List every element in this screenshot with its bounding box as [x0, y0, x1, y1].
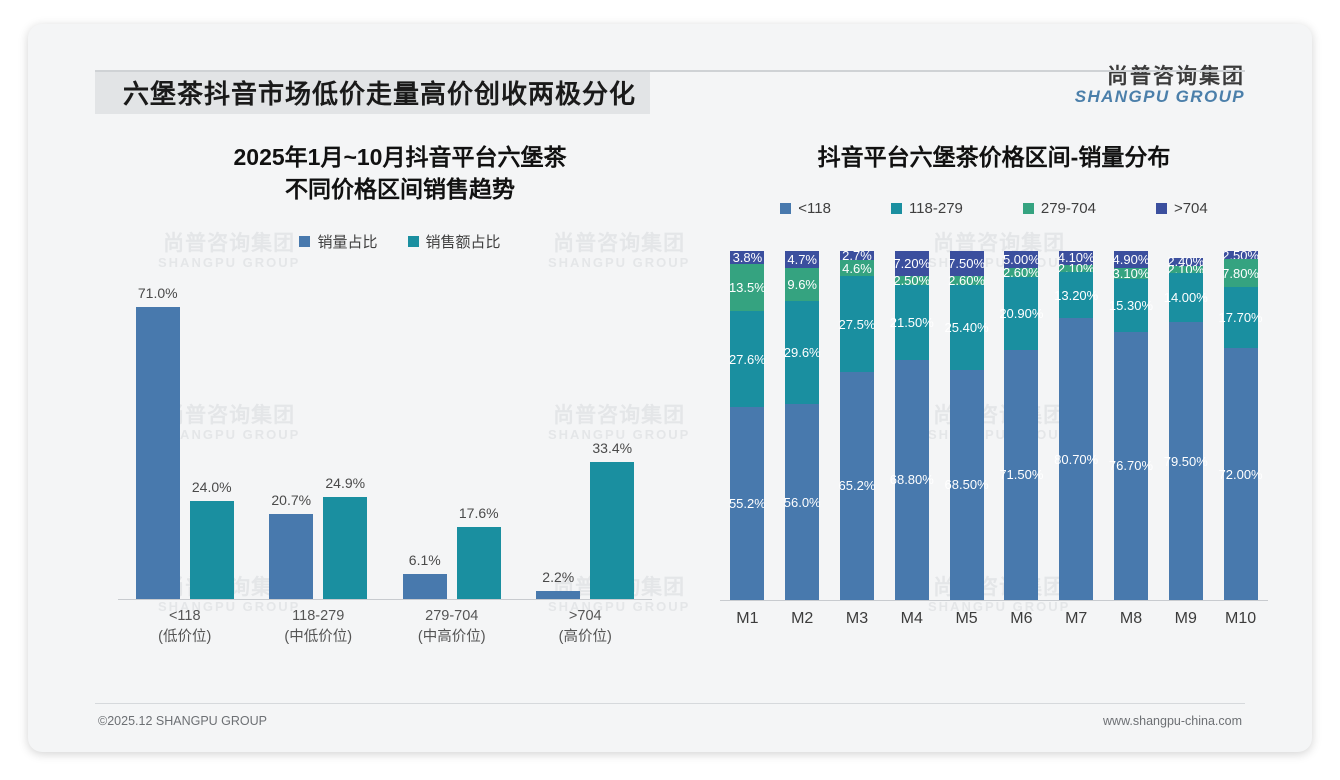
bar-group: 2.2% 33.4%: [519, 290, 653, 599]
stacked-bar-segment[interactable]: 2.10%: [1169, 266, 1203, 273]
stacked-bar[interactable]: 4.10%2.10%13.20%80.70%: [1059, 251, 1093, 600]
stacked-bar-segment[interactable]: 68.50%: [950, 370, 984, 600]
legend-swatch-icon: [408, 236, 419, 247]
stacked-bar-segment[interactable]: 13.20%: [1059, 272, 1093, 318]
bar-value-label: 33.4%: [592, 440, 632, 456]
segment-value-label: 55.2%: [729, 496, 766, 511]
legend-label: 118-279: [909, 200, 963, 217]
stacked-bar-segment[interactable]: 20.90%: [1004, 277, 1038, 350]
left-chart-panel: 2025年1月~10月抖音平台六堡茶 不同价格区间销售趋势 销量占比 销售额占比…: [100, 142, 700, 702]
segment-value-label: 7.20%: [893, 256, 930, 271]
legend-item-low[interactable]: <118: [780, 200, 831, 217]
stacked-bar[interactable]: 7.20%2.50%21.50%68.80%: [895, 251, 929, 600]
segment-value-label: 29.6%: [784, 345, 821, 360]
right-chart-panel: 抖音平台六堡茶价格区间-销量分布 <118 118-279 279-704 >7…: [714, 142, 1274, 702]
segment-value-label: 4.90%: [1113, 252, 1150, 267]
bar-group: 6.1% 17.6%: [385, 290, 519, 599]
segment-value-label: 79.50%: [1164, 454, 1208, 469]
stacked-bar[interactable]: 4.90%3.10%15.30%76.70%: [1114, 251, 1148, 600]
stacked-bar[interactable]: 5.00%2.60%20.90%71.50%: [1004, 251, 1038, 600]
segment-value-label: 27.5%: [839, 317, 876, 332]
stacked-bar-segment[interactable]: 17.70%: [1224, 287, 1258, 349]
stacked-bar-segment[interactable]: 2.7%: [840, 251, 874, 260]
stacked-bar-segment[interactable]: 21.50%: [895, 285, 929, 360]
stacked-bar[interactable]: 7.50%2.60%25.40%68.50%: [950, 251, 984, 600]
stacked-bar-segment[interactable]: 76.70%: [1114, 332, 1148, 600]
left-plot-area: 71.0% 24.0% 20.7% 24.9%: [118, 290, 652, 600]
stacked-bar-segment[interactable]: 9.6%: [785, 268, 819, 302]
legend-swatch-icon: [780, 203, 791, 214]
bar-value-label: 71.0%: [138, 285, 178, 301]
bar-value-label: 20.7%: [271, 492, 311, 508]
left-grouped-bar-chart: 71.0% 24.0% 20.7% 24.9%: [100, 276, 700, 646]
stacked-bar-segment[interactable]: 27.6%: [730, 311, 764, 407]
bar-volume[interactable]: 2.2%: [536, 591, 580, 600]
x-axis-tick: M5: [939, 601, 994, 643]
stacked-bar[interactable]: 2.7%4.6%27.5%65.2%: [840, 251, 874, 600]
stacked-bar-segment[interactable]: 2.60%: [950, 276, 984, 285]
x-axis-tick: M7: [1049, 601, 1104, 643]
stacked-bar-segment[interactable]: 3.8%: [730, 251, 764, 264]
stacked-bar-segment[interactable]: 55.2%: [730, 407, 764, 599]
x-axis-tick: <118 (低价位): [118, 600, 252, 646]
stacked-bar-segment[interactable]: 56.0%: [785, 404, 819, 599]
segment-value-label: 21.50%: [890, 315, 934, 330]
stacked-bar-segment[interactable]: 15.30%: [1114, 279, 1148, 332]
bar-value-label: 2.2%: [542, 569, 574, 585]
legend-swatch-icon: [1156, 203, 1167, 214]
stacked-bar-segment[interactable]: 65.2%: [840, 372, 874, 600]
brand-logo-en: SHANGPU GROUP: [1075, 88, 1245, 106]
stacked-bar-segment[interactable]: 2.50%: [895, 276, 929, 285]
segment-value-label: 76.70%: [1109, 458, 1153, 473]
legend-label: <118: [798, 200, 831, 217]
stacked-bar-segment[interactable]: 7.80%: [1224, 259, 1258, 286]
right-x-axis-labels: M1M2M3M4M5M6M7M8M9M10: [720, 601, 1268, 643]
segment-value-label: 3.8%: [733, 250, 763, 265]
bar-group: 71.0% 24.0%: [118, 290, 252, 599]
bar-amount[interactable]: 33.4%: [590, 462, 634, 600]
x-axis-tick: M2: [775, 601, 830, 643]
stacked-bar-column: 2.40%2.10%14.00%79.50%: [1158, 251, 1213, 600]
slide-header: 六堡茶抖音市场低价走量高价创收两极分化 尚普咨询集团 SHANGPU GROUP: [28, 70, 1312, 126]
stacked-bar-column: 7.50%2.60%25.40%68.50%: [939, 251, 994, 600]
stacked-bar[interactable]: 3.8%13.5%27.6%55.2%: [730, 251, 764, 600]
x-axis-tick: M8: [1104, 601, 1159, 643]
bar-amount[interactable]: 24.9%: [323, 497, 367, 600]
segment-value-label: 4.6%: [842, 261, 872, 276]
legend-item-midhigh[interactable]: 279-704: [1023, 200, 1096, 217]
x-axis-tick: M6: [994, 601, 1049, 643]
x-axis-tick: M10: [1213, 601, 1268, 643]
stacked-bar-segment[interactable]: 27.5%: [840, 276, 874, 372]
stacked-bar-segment[interactable]: 79.50%: [1169, 322, 1203, 599]
segment-value-label: 14.00%: [1164, 290, 1208, 305]
legend-swatch-icon: [299, 236, 310, 247]
x-axis-tick: M3: [830, 601, 885, 643]
segment-value-label: 68.80%: [890, 472, 934, 487]
x-axis-tick: M9: [1158, 601, 1213, 643]
footer-copyright: ©2025.12 SHANGPU GROUP: [98, 714, 267, 728]
stacked-bar[interactable]: 2.40%2.10%14.00%79.50%: [1169, 251, 1203, 600]
segment-value-label: 20.90%: [999, 306, 1043, 321]
stacked-bar-segment[interactable]: 68.80%: [895, 360, 929, 600]
segment-value-label: 7.80%: [1222, 266, 1259, 281]
stacked-bar-column: 4.10%2.10%13.20%80.70%: [1049, 251, 1104, 600]
stacked-bar-segment[interactable]: 72.00%: [1224, 348, 1258, 599]
right-chart-title: 抖音平台六堡茶价格区间-销量分布: [714, 142, 1274, 174]
legend-label: 279-704: [1041, 200, 1096, 217]
stacked-bar-column: 4.90%3.10%15.30%76.70%: [1104, 251, 1159, 600]
stacked-bar-segment[interactable]: 4.6%: [840, 260, 874, 276]
segment-value-label: 13.5%: [729, 280, 766, 295]
bar-value-label: 17.6%: [459, 505, 499, 521]
stacked-bar-segment[interactable]: 2.60%: [1004, 268, 1038, 277]
page-title-band: 六堡茶抖音市场低价走量高价创收两极分化: [95, 70, 650, 114]
segment-value-label: 9.6%: [787, 277, 817, 292]
right-plot-area: 3.8%13.5%27.6%55.2%4.7%9.6%29.6%56.0%2.7…: [720, 251, 1268, 601]
stacked-bar-column: 5.00%2.60%20.90%71.50%: [994, 251, 1049, 600]
segment-value-label: 80.70%: [1054, 452, 1098, 467]
segment-value-label: 25.40%: [945, 320, 989, 335]
stacked-bar-segment[interactable]: 13.5%: [730, 264, 764, 311]
segment-value-label: 68.50%: [945, 477, 989, 492]
left-chart-legend: 销量占比 销售额占比: [100, 231, 700, 252]
x-axis-tick: >704 (高价位): [519, 600, 653, 646]
x-axis-tick: M1: [720, 601, 775, 643]
segment-value-label: 13.20%: [1054, 288, 1098, 303]
stacked-bar-column: 7.20%2.50%21.50%68.80%: [884, 251, 939, 600]
stacked-bar-segment[interactable]: 2.50%: [1224, 251, 1258, 260]
stacked-bar-segment[interactable]: 3.10%: [1114, 268, 1148, 279]
legend-swatch-icon: [891, 203, 902, 214]
x-axis-tick: 118-279 (中低价位): [252, 600, 386, 646]
bar-amount[interactable]: 17.6%: [457, 527, 501, 600]
legend-item-sales-amount[interactable]: 销售额占比: [408, 231, 501, 252]
stacked-bar-segment[interactable]: 25.40%: [950, 285, 984, 370]
left-chart-title: 2025年1月~10月抖音平台六堡茶 不同价格区间销售趋势: [100, 142, 700, 205]
bar-volume[interactable]: 71.0%: [136, 307, 180, 599]
stacked-bar-segment[interactable]: 2.10%: [1059, 265, 1093, 272]
legend-swatch-icon: [1023, 203, 1034, 214]
legend-item-sales-volume[interactable]: 销量占比: [299, 231, 377, 252]
stacked-bar-column: 4.7%9.6%29.6%56.0%: [775, 251, 830, 600]
stacked-bar-column: 2.50%7.80%17.70%72.00%: [1213, 251, 1268, 600]
left-chart-title-line1: 2025年1月~10月抖音平台六堡茶: [100, 142, 700, 174]
segment-value-label: 65.2%: [839, 478, 876, 493]
left-x-axis-labels: <118 (低价位) 118-279 (中低价位) 279-704 (中高价位)…: [118, 600, 652, 646]
x-axis-tick: 279-704 (中高价位): [385, 600, 519, 646]
legend-item-high[interactable]: >704: [1156, 200, 1208, 217]
right-chart-legend: <118 118-279 279-704 >704: [714, 200, 1274, 217]
stacked-bar[interactable]: 2.50%7.80%17.70%72.00%: [1224, 251, 1258, 600]
legend-label: 销量占比: [317, 231, 377, 252]
header-divider: [95, 70, 1245, 72]
stacked-bar-segment[interactable]: 71.50%: [1004, 350, 1038, 600]
right-stacked-bar-chart: 3.8%13.5%27.6%55.2%4.7%9.6%29.6%56.0%2.7…: [714, 243, 1274, 643]
segment-value-label: 72.00%: [1219, 467, 1263, 482]
segment-value-label: 17.70%: [1219, 310, 1263, 325]
stacked-bar-segment[interactable]: 80.70%: [1059, 318, 1093, 599]
stacked-bar-segment[interactable]: 29.6%: [785, 301, 819, 404]
bar-group: 20.7% 24.9%: [252, 290, 386, 599]
legend-item-midlow[interactable]: 118-279: [891, 200, 963, 217]
segment-value-label: 56.0%: [784, 495, 821, 510]
segment-value-label: 71.50%: [999, 467, 1043, 482]
segment-value-label: 4.7%: [787, 252, 817, 267]
bar-volume[interactable]: 20.7%: [269, 514, 313, 599]
bar-value-label: 24.9%: [325, 475, 365, 491]
segment-value-label: 7.50%: [948, 256, 985, 271]
footer-divider: [95, 703, 1245, 704]
bar-value-label: 6.1%: [409, 552, 441, 568]
bar-value-label: 24.0%: [192, 479, 232, 495]
stacked-bar-column: 2.7%4.6%27.5%65.2%: [830, 251, 885, 600]
segment-value-label: 15.30%: [1109, 298, 1153, 313]
footer-website: www.shangpu-china.com: [1103, 714, 1242, 728]
legend-label: >704: [1174, 200, 1208, 217]
slide-canvas: 六堡茶抖音市场低价走量高价创收两极分化 尚普咨询集团 SHANGPU GROUP…: [28, 24, 1312, 752]
legend-label: 销售额占比: [426, 231, 501, 252]
bar-volume[interactable]: 6.1%: [403, 574, 447, 599]
x-axis-tick: M4: [884, 601, 939, 643]
bar-amount[interactable]: 24.0%: [190, 501, 234, 600]
stacked-bar-segment[interactable]: 14.00%: [1169, 273, 1203, 322]
stacked-bar[interactable]: 4.7%9.6%29.6%56.0%: [785, 251, 819, 600]
stacked-bar-segment[interactable]: 4.7%: [785, 251, 819, 267]
left-chart-title-line2: 不同价格区间销售趋势: [100, 174, 700, 206]
segment-value-label: 27.6%: [729, 352, 766, 367]
page-title: 六堡茶抖音市场低价走量高价创收两极分化: [123, 74, 636, 111]
stacked-bar-column: 3.8%13.5%27.6%55.2%: [720, 251, 775, 600]
